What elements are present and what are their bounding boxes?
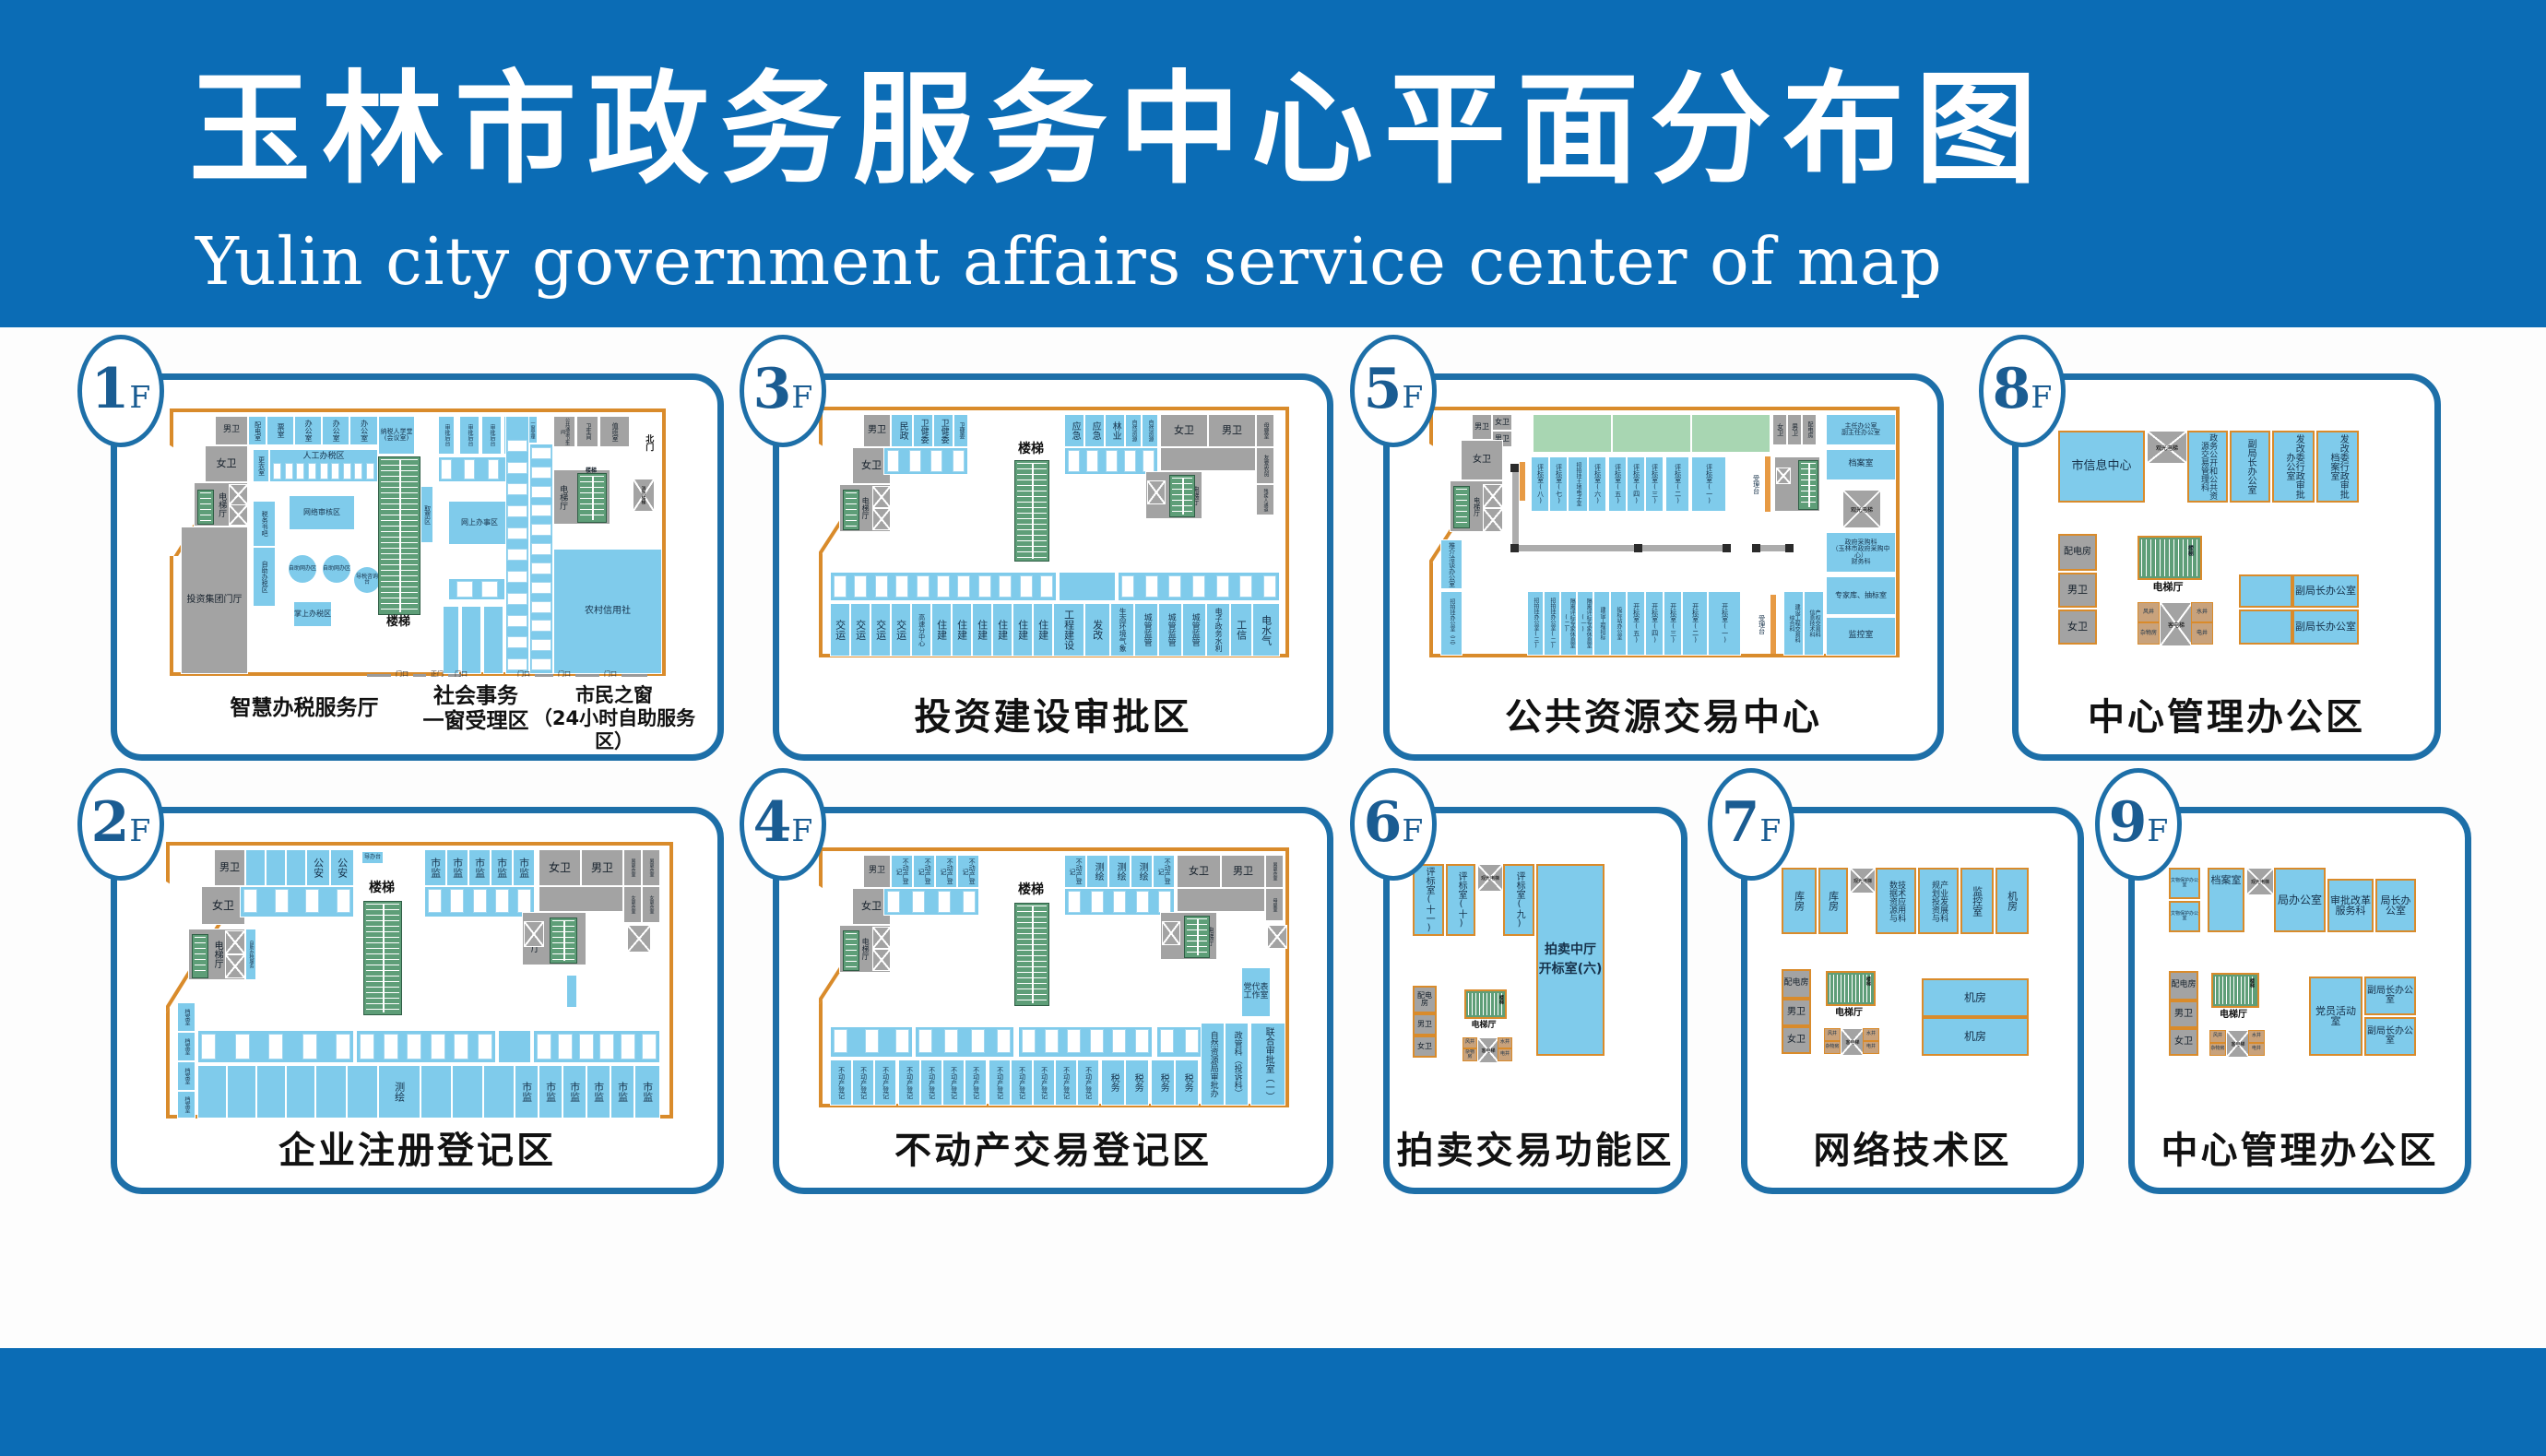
sight-elevator: 观光电梯 — [2246, 868, 2274, 895]
room-director-office: 主任办公室 副主任办公室 — [1826, 414, 1896, 445]
room-junk: 杂物房 — [1462, 1048, 1477, 1061]
room-storage-2: 库房 — [1818, 868, 1848, 934]
page-title-cn: 玉林市政务服务中心平面分布图 — [189, 69, 2048, 191]
bottom-room: 不动产登记 — [942, 1059, 965, 1106]
bid-room: 建设工程招标 — [1593, 591, 1610, 656]
room-label-b1: 产业发展科 — [1938, 881, 1947, 922]
room-tax-2: 税务 — [1125, 1059, 1149, 1106]
counter-row-b — [452, 582, 502, 597]
floor-title-7f: 网络技术区 — [1741, 1120, 2084, 1174]
bottom-room: 交运 — [830, 603, 850, 657]
room-open-area-1 — [2239, 574, 2292, 608]
room-emergency-1: 应急 — [1064, 414, 1084, 447]
bottom-counter-seats-a — [201, 1035, 350, 1059]
green-room-3 — [1691, 414, 1770, 453]
room-deputy-office-2: 副局长办公室 — [2292, 610, 2359, 645]
room-property-trade: 产权交易科 信息技术科 — [1804, 591, 1824, 656]
room-junk: 杂物房 — [2209, 1043, 2226, 1056]
kiosk-stack-1 — [508, 440, 527, 670]
room-ndrc-approval-office: 发改委行政审批办公室 — [2272, 431, 2315, 503]
green-room-2 — [1612, 414, 1691, 453]
room-male-wc: 男卫 — [863, 855, 891, 888]
room-realestate-t3: 不动产登记 — [935, 855, 957, 888]
bottom-room: 城管监管 — [1158, 603, 1182, 657]
bottom-counter-seats-b — [918, 1030, 1011, 1052]
room-bureau-chief: 局长办公室 — [2375, 879, 2416, 932]
plan-4f: 男卫 女卫 电梯厅 不动产登记 不动产登记 不动产登记 不动产登记 楼梯 不动产… — [819, 847, 1289, 1107]
room-male-wc: 男卫 — [2058, 573, 2097, 608]
bottom-room: 不动产登记 — [1011, 1059, 1033, 1106]
eval-room: 评标室(四) — [1627, 456, 1645, 512]
room-tech-app-data: 技术应用科 数据资源与 — [1876, 868, 1916, 934]
room-market-sup-b5: 市监 — [610, 1065, 634, 1119]
bid-room: 开标室(二) — [1682, 591, 1708, 656]
room-friend-market: 友爱农贸 — [1256, 447, 1274, 484]
room-office-2: 办公室 — [322, 416, 349, 445]
stair-left — [197, 490, 214, 525]
label-stair: 楼梯 — [1863, 977, 1872, 988]
room-wc: 卫生间 — [576, 416, 598, 447]
room-emergency-2: 应急 — [1084, 414, 1105, 447]
room-male-wc: 男卫 — [2169, 1000, 2198, 1028]
page-footer-band — [0, 1348, 2546, 1456]
floor-card-4f[interactable]: 4F 男卫 女卫 电梯厅 不动产登记 不动产登记 不动产登记 不动产登记 楼梯 … — [773, 807, 1333, 1194]
counter-strip-e — [483, 606, 503, 674]
room-server-2: 机房 — [1922, 1017, 2029, 1056]
room-wind-shaft: 风井 — [2209, 1030, 2226, 1043]
room-corridor-right — [539, 886, 623, 912]
room-server-1: 机房 — [1922, 978, 2029, 1017]
label-north-gate: 北门 — [642, 434, 655, 455]
sight-elevator: 观光电梯 — [1477, 864, 1503, 892]
bottom-room — [315, 1065, 347, 1119]
room-label-a2: 数据资源与 — [1888, 881, 1896, 922]
bottom-room: 工程建设 — [1053, 603, 1084, 657]
room-net-review: 网络审核区 — [289, 495, 355, 530]
bottom-room: 不动产登记 — [965, 1059, 987, 1106]
room-female-wc: 女卫 — [201, 886, 245, 925]
label-stair-center: 楼梯 — [356, 881, 408, 896]
stair-left — [843, 490, 859, 530]
room-female-changing-2: 女更衣室 — [642, 886, 660, 923]
room-invest-lobby: 投资集团门厅 — [181, 527, 248, 674]
room-complaint: 政管科（投诉科） — [1225, 1023, 1249, 1106]
room-male-wc: 男卫 — [215, 416, 248, 445]
room-construction-trade: 建设工程交易科 综合科 — [1783, 591, 1804, 656]
floor-badge-1f: 1F — [77, 335, 164, 447]
passenger-elevator: 客电梯 — [1841, 1028, 1865, 1056]
room-strip-right — [566, 975, 577, 1008]
room-auction-office-3: 招拍挂办公室（三） — [1440, 591, 1462, 656]
bottom-room: 住建 — [1012, 603, 1033, 657]
room-male-wc-right: 男卫 — [581, 849, 623, 886]
bid-room: 开标室(一) — [1708, 591, 1741, 656]
floor-card-9f[interactable]: 9F 文物保护办公室 文物保护办公室 档案室 观光电梯 局办公室 审批改革服务科… — [2128, 807, 2471, 1194]
room-disabled-access: 残疾人通道 — [1256, 484, 1274, 515]
bid-room: 招拍挂办公室(二) — [1544, 591, 1560, 656]
eval-room: 评标室(八) — [1531, 456, 1549, 512]
room-police-2: 公安 — [330, 849, 354, 886]
room-approval-reform: 审批改革服务科 — [2327, 879, 2374, 932]
room-archive-1: 档案室 — [177, 1002, 195, 1032]
bottom-room: 不动产登记 — [1033, 1059, 1055, 1106]
room-market-sup-b2: 市监 — [539, 1065, 562, 1119]
room-corridor-right — [1160, 447, 1256, 471]
bottom-room: 发改 — [1084, 603, 1110, 657]
room-female-wc-right: 女卫 — [1160, 414, 1208, 447]
room-male-wc: 男卫 — [863, 414, 891, 447]
door-7: 门口 — [599, 668, 622, 680]
room-party-rep: 党代表工作室 — [1241, 967, 1271, 1017]
room-eval-10: 评标室(十) — [1446, 864, 1475, 936]
room-realestate-t2: 不动产登记 — [913, 855, 935, 888]
passenger-elevator: 客电梯 — [2160, 602, 2193, 646]
plan-5f: 男卫 女卫 男卫 女卫 电梯厅 推介洽谈办公室 招拍挂办公室（三） 评标室(八)… — [1429, 407, 1900, 657]
counter-row-left — [887, 451, 965, 471]
room-duty: 值班室 — [599, 416, 630, 447]
eval-room: 评标室(三) — [1645, 456, 1664, 512]
bottom-room: 住建 — [992, 603, 1012, 657]
room-archive-2: 档案室 — [177, 1032, 195, 1061]
room-promo-talk: 推介洽谈办公室 — [1440, 539, 1462, 589]
room-top-2 — [266, 849, 286, 886]
room-open-area-2 — [2239, 610, 2292, 645]
bottom-room — [483, 1065, 515, 1119]
room-approval-back-3: 审批后台 — [481, 416, 502, 455]
room-tax-4: 税务 — [1175, 1059, 1199, 1106]
room-market-sup-b3: 市监 — [562, 1065, 586, 1119]
room-tax-bookbar: 税务书吧 — [253, 501, 276, 547]
room-realestate-r2: 不动产登记 — [1153, 855, 1175, 888]
bottom-room: 交运 — [891, 603, 911, 657]
room-water-shaft: 水井 — [2191, 602, 2213, 622]
room-wind-shaft: 风井 — [1462, 1037, 1477, 1048]
circle-self-net-2: 自助网办区 — [323, 555, 350, 583]
room-online-service: 网上办事区 — [448, 501, 511, 545]
room-junk: 杂物房 — [2137, 622, 2160, 645]
label-stair: 楼梯 — [1496, 995, 1505, 1007]
room-female-wc-right: 女卫 — [539, 849, 581, 886]
room-city-info-center: 市信息中心 — [2058, 431, 2145, 503]
room-female-wc-a: 女卫 — [1492, 414, 1512, 431]
label-elev-hall: 电梯厅 — [2139, 582, 2197, 594]
label-stair-center: 楼梯 — [1007, 882, 1055, 898]
room-power: 配电房 — [2169, 971, 2198, 1000]
room-power: 配电房 — [1802, 414, 1817, 445]
counter-row-right — [428, 890, 531, 912]
room-power: 配电房 — [2058, 534, 2097, 571]
elevator-car-1 — [872, 486, 891, 508]
kiosk-stack-2 — [532, 447, 551, 670]
caption-1f-b: 社会事务 一窗受理区 — [417, 684, 535, 734]
plan-2f: 男卫 女卫 电梯厅 自助办税服务 公安 公安 导办台 楼梯 市监 市监 市监 市… — [166, 842, 673, 1119]
eval-room: 评标室(五) — [1608, 456, 1627, 512]
room-elec-shaft: 电井 — [2248, 1043, 2265, 1056]
stair-left — [192, 934, 208, 978]
floor-badge-8f: 8F — [1979, 335, 2066, 447]
room-health-2: 卫健委 — [933, 414, 953, 447]
bottom-room: 不动产登记 — [874, 1059, 896, 1106]
bottom-room — [452, 1065, 483, 1119]
room-archives: 档案室 — [1826, 449, 1896, 480]
fire-stair-right: 消防楼梯 — [633, 479, 655, 512]
room-female-wc-right: 女卫 — [1177, 855, 1221, 888]
room-cultural-office-2: 文物保护办公室 — [2169, 901, 2200, 932]
room-approval-back-1: 审批后台 — [438, 416, 455, 455]
room-natres-approval: 自然资源局审批办 — [1201, 1023, 1225, 1106]
room-female-wc: 女卫 — [1413, 1036, 1437, 1058]
bid-room: 投标站办公室 — [1610, 591, 1627, 656]
room-market-sup-3: 市监 — [468, 849, 491, 886]
floor-plan-canvas: 1F 男卫 女卫 电梯厅 投资集团门厅 配电室 票室 办公室 办公室 办公室 纳… — [0, 327, 2546, 1348]
stair-left — [843, 930, 859, 971]
room-male-wc-right: 男卫 — [1208, 414, 1256, 447]
bid-room: 开标室(四) — [1645, 591, 1664, 656]
room-cultural-office-1: 文物保护办公室 — [2169, 868, 2200, 899]
room-water-shaft: 水井 — [2248, 1030, 2265, 1043]
floor-card-5f[interactable]: 5F 男卫 女卫 男卫 女卫 电梯厅 推介洽谈办公室 招拍挂办公室（三） 评标室… — [1383, 373, 1944, 761]
bottom-room: 交运 — [850, 603, 870, 657]
stair-center — [1014, 460, 1049, 562]
reception-counter-bottom: 受理台 — [1752, 595, 1770, 654]
stair-right — [1169, 475, 1195, 517]
auction-hall-line1: 拍卖中厅 — [1545, 941, 1596, 960]
room-market-sup-b1: 市监 — [515, 1065, 539, 1119]
service-counter-seats-a — [834, 576, 1053, 597]
room-health-1: 卫健委 — [913, 414, 933, 447]
plan-3f: 男卫 女卫 电梯厅 民政 卫健委 卫健委 卫健委 楼梯 应急 应急 林业 自然资… — [819, 407, 1289, 657]
bottom-room: 高速分中心 — [911, 603, 931, 657]
room-corridor-right — [1177, 888, 1265, 912]
room-power: 配电室 — [248, 416, 266, 445]
room-female-changing-1: 女更衣室 — [623, 886, 642, 923]
room-ticket: 票室 — [266, 416, 294, 445]
bottom-room: 不动产登记 — [898, 1059, 920, 1106]
room-wind-shaft: 风井 — [1824, 1028, 1841, 1041]
stair-left — [1453, 486, 1470, 528]
bottom-counter-seats-c — [1022, 1030, 1149, 1052]
room-male-changing-2: 男更衣室 — [642, 849, 660, 886]
counter-vert-left — [1520, 462, 1525, 501]
auction-hall-line2: 开标室(六) — [1539, 960, 1603, 979]
room-archive-3: 档案室 — [177, 1061, 195, 1091]
bottom-room: 住建 — [1033, 603, 1053, 657]
room-market-sup-5: 市监 — [513, 849, 535, 886]
elevator-car-2 — [1483, 508, 1503, 532]
stair-center — [363, 901, 402, 1015]
room-self-tax-area: 自助办税区 — [253, 547, 276, 607]
room-top-1 — [245, 849, 266, 886]
bid-room: 开标室(五) — [1627, 591, 1645, 656]
label-stair-center: 楼梯 — [1007, 442, 1055, 457]
floor-card-1f[interactable]: 1F 男卫 女卫 电梯厅 投资集团门厅 配电室 票室 办公室 办公室 办公室 纳… — [111, 373, 724, 761]
room-water-shaft: 水井 — [1498, 1037, 1512, 1048]
bottom-room: 电子政务水利 — [1206, 603, 1230, 657]
elevator-car-1 — [1483, 484, 1503, 508]
floor-badge-5f: 5F — [1350, 335, 1437, 447]
elevator-car-1 — [229, 484, 248, 505]
bottom-counter-band-c — [498, 1030, 531, 1063]
room-elec-shaft: 电井 — [2191, 622, 2213, 645]
room-office-1: 办公室 — [294, 416, 322, 445]
room-forestry: 林业 — [1105, 414, 1125, 447]
bottom-room — [286, 1065, 315, 1119]
elevator-car-2 — [872, 508, 891, 530]
room-monitoring: 监控室 — [1960, 868, 1994, 934]
bottom-counter-seats-a — [834, 1030, 909, 1052]
bottom-room: 住建 — [931, 603, 952, 657]
door-5: 门口 — [513, 668, 535, 680]
floor-card-7f[interactable]: 7F 库房 库房 观光电梯 技术应用科 数据资源与 产业发展科 规划投资与 监控… — [1741, 807, 2084, 1194]
floor-badge-7f: 7F — [1708, 768, 1794, 881]
bid-room: 开标室(三) — [1664, 591, 1682, 656]
elevator-car-right — [1162, 921, 1180, 945]
room-male-wc-a: 男卫 — [1472, 414, 1492, 440]
room-market-sup-1: 市监 — [424, 849, 446, 886]
room-label-b2: 规划投资与 — [1930, 881, 1938, 922]
room-market-sup-2: 市监 — [446, 849, 468, 886]
label-stair-center: 楼梯 — [371, 615, 426, 629]
floor-card-6f[interactable]: 6F 评标室(十一) 评标室(十) 观光电梯 评标室(九) 拍卖中厅 开标室(六… — [1383, 807, 1687, 1194]
eval-room: 评标室(一) — [1691, 456, 1726, 512]
bottom-room: 工信 — [1230, 603, 1252, 657]
room-self-tax-service: 自助办税服务 — [245, 929, 256, 980]
room-power: 配电房 — [1413, 986, 1437, 1013]
room-gov-open: 政务公开和公共资源交易管理科 — [2187, 431, 2228, 503]
floor-card-2f[interactable]: 2F 男卫 女卫 电梯厅 自助办税服务 公安 公安 导办台 — [111, 807, 724, 1194]
plan-1f: 男卫 女卫 电梯厅 投资集团门厅 配电室 票室 办公室 办公室 办公室 纳税人学… — [170, 408, 666, 676]
room-market-sup-b6: 市监 — [634, 1065, 660, 1119]
elevator-car-1 — [225, 930, 245, 954]
room-female-wc: 女卫 — [205, 445, 248, 482]
circle-guide-desk: 导税咨询台 — [354, 567, 380, 593]
floor-badge-6f: 6F — [1350, 768, 1437, 881]
caption-1f-c: 市民之窗 （24小时自助服务区） — [531, 684, 697, 752]
counter-row-manual — [273, 464, 374, 479]
room-elec-shaft: 电井 — [1863, 1041, 1879, 1054]
room-ndrc-archive: 发改委行政审批档案室 — [2316, 431, 2359, 503]
elevator-car-2 — [229, 504, 248, 526]
counter-row-left — [243, 890, 350, 912]
room-natres-2: 自然资源 — [1142, 414, 1158, 447]
bottom-counter-seats-b — [360, 1035, 492, 1059]
room-nursery: 母婴室 — [1265, 888, 1284, 921]
sight-elevator: 观光电梯 — [1850, 868, 1876, 894]
room-procurement: 政府采购科 （玉林市政府采购中心） 财务科 — [1826, 532, 1896, 573]
bottom-room: 不动产登记 — [920, 1059, 942, 1106]
counter-row-right — [1068, 451, 1155, 471]
room-taxpayer-school: 纳税人学堂(会议室) — [378, 416, 415, 455]
room-male-wc-right: 男卫 — [1221, 855, 1265, 888]
room-female-wc: 女卫 — [2058, 610, 2097, 645]
bottom-room: 电水气 — [1252, 603, 1280, 657]
room-junk: 杂物房 — [1824, 1041, 1841, 1054]
corridor-horizontal-1 — [1512, 545, 1730, 551]
room-female-wc-b: 女卫 — [1461, 440, 1503, 480]
door-1: 门口 — [391, 668, 413, 680]
room-survey: 测绘 — [378, 1065, 420, 1119]
bottom-room: 生态环境气象 — [1110, 603, 1134, 657]
plan-6f: 评标室(十一) 评标室(十) 观光电梯 评标室(九) 拍卖中厅 开标室(六) 配… — [1409, 860, 1658, 1100]
bottom-counter-seats-d — [537, 1035, 657, 1059]
stair-center — [378, 456, 420, 615]
room-storage-1: 库房 — [1782, 868, 1817, 934]
floor-card-3f[interactable]: 3F 男卫 女卫 电梯厅 民政 卫健委 卫健委 卫健委 楼梯 应急 应急 — [773, 373, 1333, 761]
room-female-wc: 女卫 — [1782, 1026, 1811, 1054]
counter-row-right — [1068, 892, 1171, 912]
room-ticket-area: 取票区 — [420, 486, 433, 543]
bid-room: 隔离评标专家休息室(二) — [1560, 591, 1577, 656]
floor-badge-9f: 9F — [2095, 768, 2182, 881]
counter-row-left — [887, 892, 976, 912]
bottom-room: 不动产登记 — [852, 1059, 874, 1106]
bottom-room — [197, 1065, 227, 1119]
floor-badge-3f: 3F — [740, 335, 826, 447]
fire-stair-right — [627, 925, 651, 953]
label-stair: 楼梯 — [2246, 978, 2256, 990]
label-stair-right: 楼梯 — [575, 468, 607, 474]
door-6: 门口 — [553, 668, 575, 680]
room-health-3: 卫健委 — [953, 414, 968, 447]
room-eval-9: 评标室(九) — [1503, 864, 1534, 936]
room-deputy-office-1: 副局长办公室 — [2292, 574, 2359, 608]
room-male-wc-right: 男卫 — [1787, 414, 1802, 445]
sight-elevator: 观光电梯 — [1842, 490, 1881, 528]
room-server-top: 机房 — [1995, 868, 2029, 934]
room-civil-affairs: 民政 — [891, 414, 913, 447]
room-male-wc: 男卫 — [214, 849, 245, 886]
room-office-3: 办公室 — [349, 416, 378, 445]
stair-right — [1184, 916, 1210, 958]
plan-7f: 库房 库房 观光电梯 技术应用科 数据资源与 产业发展科 规划投资与 监控室 机… — [1778, 864, 2055, 1095]
counter-strip-c — [443, 606, 459, 674]
room-eval-11: 评标室(十一) — [1413, 864, 1444, 936]
room-approval-back-2: 审批后台 — [459, 416, 480, 455]
stair-center — [1014, 903, 1049, 1006]
room-deputy-chief-2: 副局长办公室 — [2364, 1017, 2416, 1056]
room-archives: 档案室 — [2208, 868, 2244, 932]
floor-badge-2f: 2F — [77, 768, 164, 881]
room-male-wc: 男卫 — [1782, 999, 1811, 1026]
room-expert-pool: 专家库、抽标室 — [1826, 576, 1896, 615]
counter-bar-top — [1765, 456, 1770, 512]
eval-room: 招拍挂土地电子室 — [1568, 456, 1588, 512]
floor-card-8f[interactable]: 8F 市信息中心 观光电梯 政务公开和公共资源交易管理科 副局长办公室 发改委行… — [2012, 373, 2441, 761]
counter-bar-bottom — [1770, 595, 1776, 654]
room-tax-1: 税务 — [1101, 1059, 1125, 1106]
room-market-sup-b4: 市监 — [586, 1065, 610, 1119]
floor-title-6f: 拍卖交易功能区 — [1383, 1120, 1687, 1174]
bottom-room: 交运 — [870, 603, 891, 657]
bottom-room: 不动产登记 — [1077, 1059, 1099, 1106]
room-joint-approval: 联合审批室（一） — [1250, 1023, 1285, 1106]
room-monitoring: 监控室 — [1826, 617, 1896, 656]
eval-room: 评标室(六) — [1588, 456, 1606, 512]
plan-9f: 文物保护办公室 文物保护办公室 档案室 观光电梯 局办公室 审批改革服务科 局长… — [2165, 864, 2442, 1095]
room-survey-1: 测绘 — [1086, 855, 1108, 888]
room-nursery: 母婴室 — [1256, 414, 1274, 447]
room-police-1: 公安 — [306, 849, 330, 886]
label-elev-hall: 电梯厅 — [2209, 1010, 2257, 1021]
bottom-room — [256, 1065, 286, 1119]
room-rural-credit: 农村信用社 — [553, 549, 662, 674]
bottom-room — [347, 1065, 378, 1119]
sight-elevator: 观光电梯 — [2147, 431, 2187, 464]
green-room-1 — [1533, 414, 1612, 453]
room-elec-shaft: 电井 — [1498, 1048, 1512, 1061]
room-realestate-t4: 不动产登记 — [957, 855, 979, 888]
room-female-wc-right: 女卫 — [1772, 414, 1787, 445]
